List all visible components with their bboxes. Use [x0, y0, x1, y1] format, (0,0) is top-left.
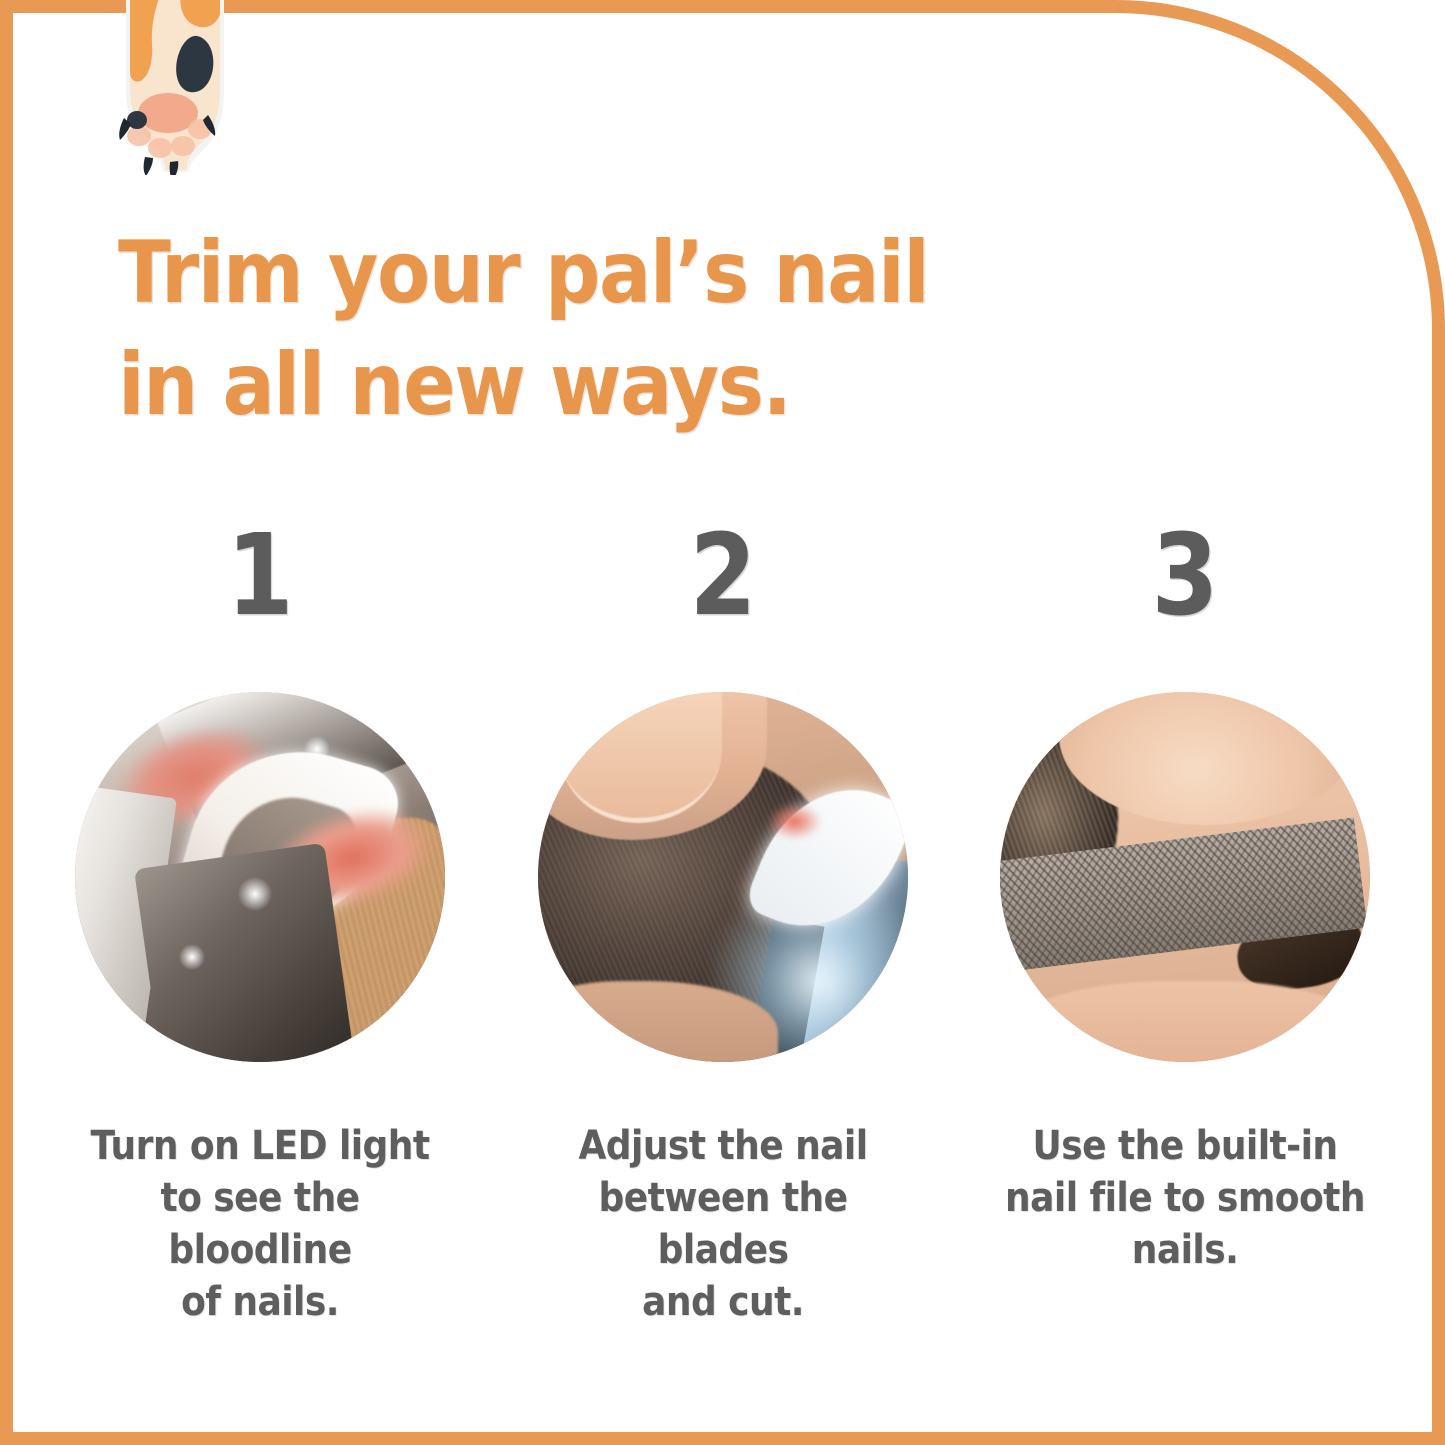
step-2-number: 2	[689, 520, 756, 640]
step-2: 2 Adjust the nail between the blades and…	[503, 520, 943, 1328]
step-3-photo	[1000, 692, 1370, 1062]
step-1-photo	[75, 692, 445, 1062]
cat-paw-icon	[96, 0, 236, 175]
step-1-illustration	[75, 692, 445, 1062]
step-3: 3 Use the built-in nail file to smooth n…	[965, 520, 1405, 1276]
step-3-caption: Use the built-in nail file to smooth nai…	[1005, 1120, 1365, 1276]
step-2-caption: Adjust the nail between the blades and c…	[543, 1120, 903, 1328]
steps-row: 1 Turn on LED light to see the	[40, 520, 1405, 1328]
step-2-illustration	[538, 692, 908, 1062]
step-2-photo	[538, 692, 908, 1062]
page-title: Trim your pal’s nail in all new ways.	[118, 218, 1000, 442]
step-3-illustration	[1000, 692, 1370, 1062]
step-1: 1 Turn on LED light to see the	[40, 520, 480, 1328]
step-1-caption: Turn on LED light to see the bloodline o…	[80, 1120, 440, 1328]
step-3-number: 3	[1151, 520, 1218, 640]
step-1-number: 1	[226, 520, 293, 640]
product-infographic: Trim your pal’s nail in all new ways. 1	[0, 0, 1445, 1445]
